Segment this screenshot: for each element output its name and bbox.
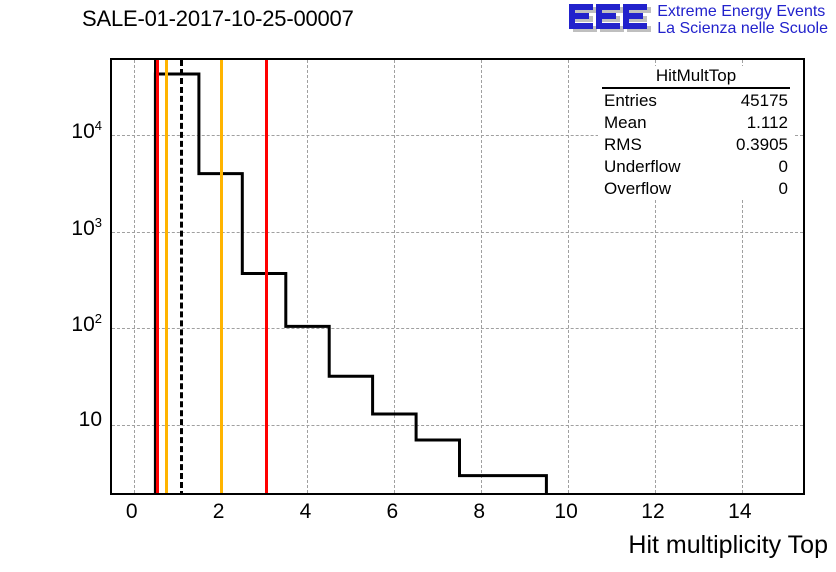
x-tick-label: 10 <box>554 500 577 524</box>
stats-row-value: 0 <box>779 156 788 178</box>
x-tick-label: 12 <box>641 500 664 524</box>
stats-box: HitMultTop Entries45175Mean1.112RMS0.390… <box>598 66 794 200</box>
eee-logo-line1: Extreme Energy Events <box>657 3 828 20</box>
stats-row-key: Entries <box>604 90 657 112</box>
stats-row-key: Underflow <box>604 156 681 178</box>
x-axis-title: Hit multiplicity Top <box>628 531 828 560</box>
stats-row-value: 45175 <box>741 90 788 112</box>
x-tick-label: 0 <box>126 500 138 524</box>
threshold-red-low <box>156 60 159 493</box>
threshold-red-high <box>265 60 268 493</box>
stats-row-value: 0 <box>779 178 788 200</box>
stats-row-value: 0.3905 <box>736 134 788 156</box>
x-tick-label: 8 <box>473 500 485 524</box>
eee-logo-mark <box>567 2 651 38</box>
threshold-orange-high <box>220 60 223 493</box>
stats-row-key: Mean <box>604 112 647 134</box>
threshold-orange-low <box>165 60 168 493</box>
stats-row-value: 1.112 <box>747 112 788 134</box>
mean-dashed <box>180 60 183 493</box>
stats-box-rows: Entries45175Mean1.112RMS0.3905Underflow0… <box>598 90 794 200</box>
y-tick-label: 104 <box>71 118 102 144</box>
eee-logo-text: Extreme Energy Events La Scienza nelle S… <box>657 3 828 38</box>
eee-logo-line2: La Scienza nelle Scuole <box>657 20 828 37</box>
x-tick-label: 6 <box>387 500 399 524</box>
stats-row: Underflow0 <box>598 156 794 178</box>
page-title: SALE-01-2017-10-25-00007 <box>82 6 354 32</box>
stats-row: Overflow0 <box>598 178 794 200</box>
stats-row: Entries45175 <box>598 90 794 112</box>
x-tick-label: 4 <box>300 500 312 524</box>
root-canvas: SALE-01-2017-10-25-00007 <box>0 0 836 572</box>
histogram-outline <box>155 74 546 493</box>
x-tick-label: 2 <box>213 500 225 524</box>
stats-row-key: Overflow <box>604 178 671 200</box>
y-tick-label: 102 <box>71 311 102 337</box>
stats-row: Mean1.112 <box>598 112 794 134</box>
x-tick-label: 14 <box>728 500 751 524</box>
y-tick-label: 103 <box>71 215 102 241</box>
stats-row-key: RMS <box>604 134 642 156</box>
eee-logo-icon <box>567 2 651 38</box>
stats-row: RMS0.3905 <box>598 134 794 156</box>
stats-box-title: HitMultTop <box>602 66 790 89</box>
y-tick-label: 10 <box>79 408 102 432</box>
eee-logo: Extreme Energy Events La Scienza nelle S… <box>567 2 828 38</box>
